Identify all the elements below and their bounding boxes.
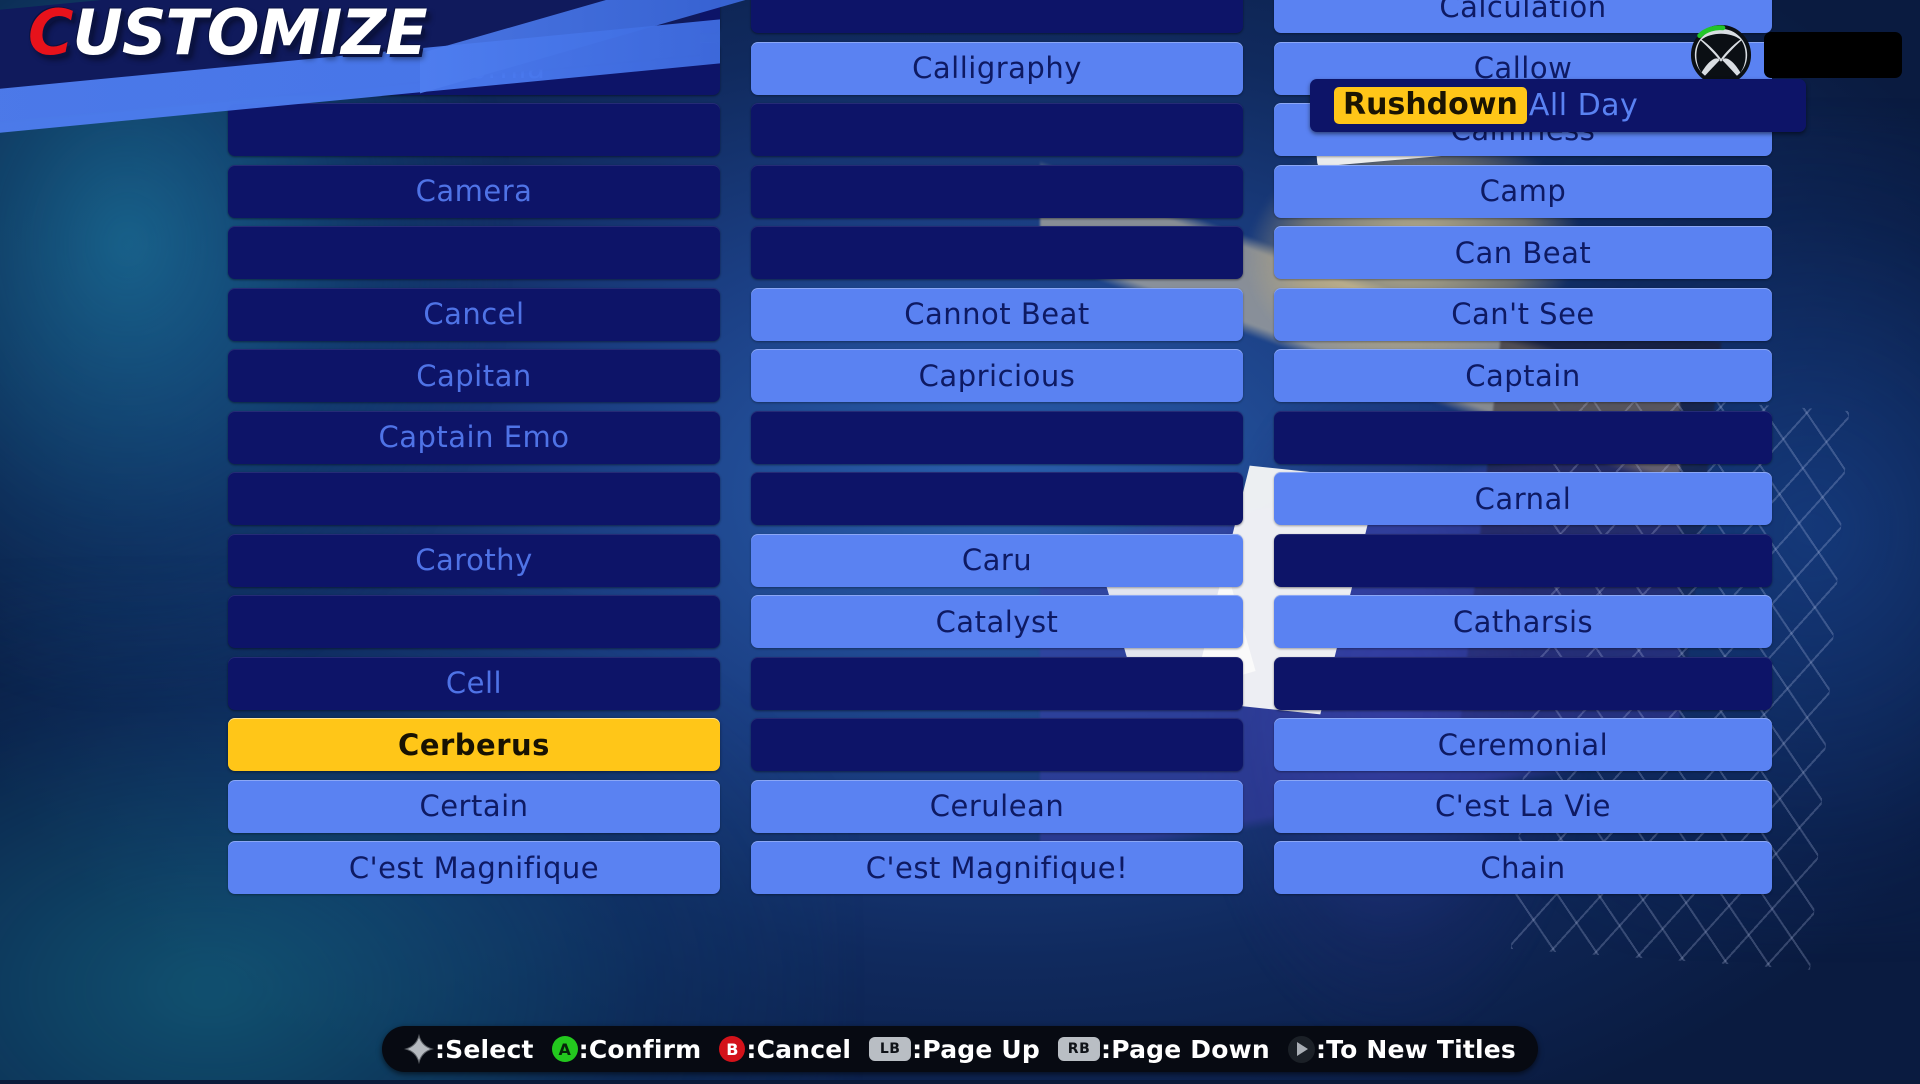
- title-cell[interactable]: [751, 718, 1243, 771]
- help-hint-label: :To New Titles: [1316, 1035, 1516, 1064]
- title-cell[interactable]: Calligraphy: [751, 42, 1243, 95]
- help-hint: B:Cancel: [719, 1035, 851, 1064]
- bumper-lb-icon: LB: [869, 1037, 911, 1061]
- title-cell[interactable]: Carothy: [228, 534, 720, 587]
- title-cell[interactable]: Captain: [1274, 349, 1772, 402]
- title-cell[interactable]: Catharsis: [1274, 595, 1772, 648]
- button-b-icon-glyph: B: [719, 1036, 745, 1062]
- help-hint-label: :Select: [435, 1035, 534, 1064]
- title-cell[interactable]: Chain: [1274, 841, 1772, 894]
- account-badge[interactable]: [1690, 24, 1902, 86]
- title-cell[interactable]: Carnal: [1274, 472, 1772, 525]
- help-hint-label: :Page Down: [1101, 1035, 1270, 1064]
- button-a-icon-glyph: A: [552, 1036, 578, 1062]
- title-cell[interactable]: [751, 657, 1243, 710]
- help-hint-label: :Cancel: [746, 1035, 851, 1064]
- title-cell[interactable]: C'est La Vie: [1274, 780, 1772, 833]
- title-cell[interactable]: [228, 595, 720, 648]
- help-hint-label: :Confirm: [579, 1035, 702, 1064]
- title-cell[interactable]: Cerberus: [228, 718, 720, 771]
- title-cell[interactable]: [1274, 411, 1772, 464]
- title-cell[interactable]: [751, 226, 1243, 279]
- title-cell[interactable]: Capitan: [228, 349, 720, 402]
- title-preview-toast: Rushdown All Day: [1310, 79, 1806, 132]
- title-cell[interactable]: [228, 472, 720, 525]
- title-cell[interactable]: Ceremonial: [1274, 718, 1772, 771]
- title-cell[interactable]: [1274, 534, 1772, 587]
- title-cell[interactable]: Cerulean: [751, 780, 1243, 833]
- title-cell[interactable]: Can Beat: [1274, 226, 1772, 279]
- bumper-rb-icon-glyph: RB: [1058, 1037, 1100, 1061]
- title-cell[interactable]: Cell: [228, 657, 720, 710]
- button-a-icon: A: [552, 1036, 578, 1062]
- bumper-rb-icon: RB: [1058, 1037, 1100, 1061]
- help-hint-label: :Page Up: [912, 1035, 1040, 1064]
- title-cell[interactable]: C'est Magnifique: [228, 841, 720, 894]
- button-b-icon: B: [719, 1036, 745, 1062]
- title-cell[interactable]: [228, 103, 720, 156]
- title-cell[interactable]: [751, 165, 1243, 218]
- xbox-logo-icon: [1690, 24, 1752, 86]
- gamertag-field[interactable]: [1764, 32, 1902, 78]
- help-hint: :To New Titles: [1288, 1035, 1516, 1064]
- title-grid[interactable]: CalculationCaliforniaCalligraphyCallowCa…: [228, 0, 1773, 1084]
- bumper-lb-icon-glyph: LB: [869, 1037, 911, 1061]
- title-cell[interactable]: Cancel: [228, 288, 720, 341]
- title-cell[interactable]: [1274, 657, 1772, 710]
- title-cell[interactable]: [751, 411, 1243, 464]
- right-stick-icon: [1288, 1036, 1315, 1063]
- title-cell[interactable]: Cannot Beat: [751, 288, 1243, 341]
- title-cell[interactable]: Catalyst: [751, 595, 1243, 648]
- dpad-icon: [404, 1034, 434, 1064]
- help-hint: A:Confirm: [552, 1035, 702, 1064]
- title-cell[interactable]: Capricious: [751, 349, 1243, 402]
- title-cell[interactable]: Camp: [1274, 165, 1772, 218]
- toast-remaining-text: All Day: [1527, 88, 1638, 123]
- title-cell[interactable]: Captain Emo: [228, 411, 720, 464]
- title-cell[interactable]: California: [228, 42, 720, 95]
- help-hint: LB:Page Up: [869, 1035, 1040, 1064]
- title-cell[interactable]: Caru: [751, 534, 1243, 587]
- title-cell[interactable]: [228, 0, 720, 33]
- title-cell[interactable]: C'est Magnifique!: [751, 841, 1243, 894]
- title-cell[interactable]: [228, 226, 720, 279]
- title-cell[interactable]: Can't See: [1274, 288, 1772, 341]
- title-cell[interactable]: Camera: [228, 165, 720, 218]
- controller-help-bar: :SelectA:ConfirmB:CancelLB:Page UpRB:Pag…: [382, 1026, 1538, 1072]
- title-cell[interactable]: Certain: [228, 780, 720, 833]
- title-cell[interactable]: [751, 472, 1243, 525]
- help-hint: RB:Page Down: [1058, 1035, 1270, 1064]
- toast-highlight-word: Rushdown: [1334, 87, 1527, 125]
- help-hint: :Select: [404, 1034, 534, 1064]
- title-cell[interactable]: [751, 0, 1243, 33]
- title-cell[interactable]: [751, 103, 1243, 156]
